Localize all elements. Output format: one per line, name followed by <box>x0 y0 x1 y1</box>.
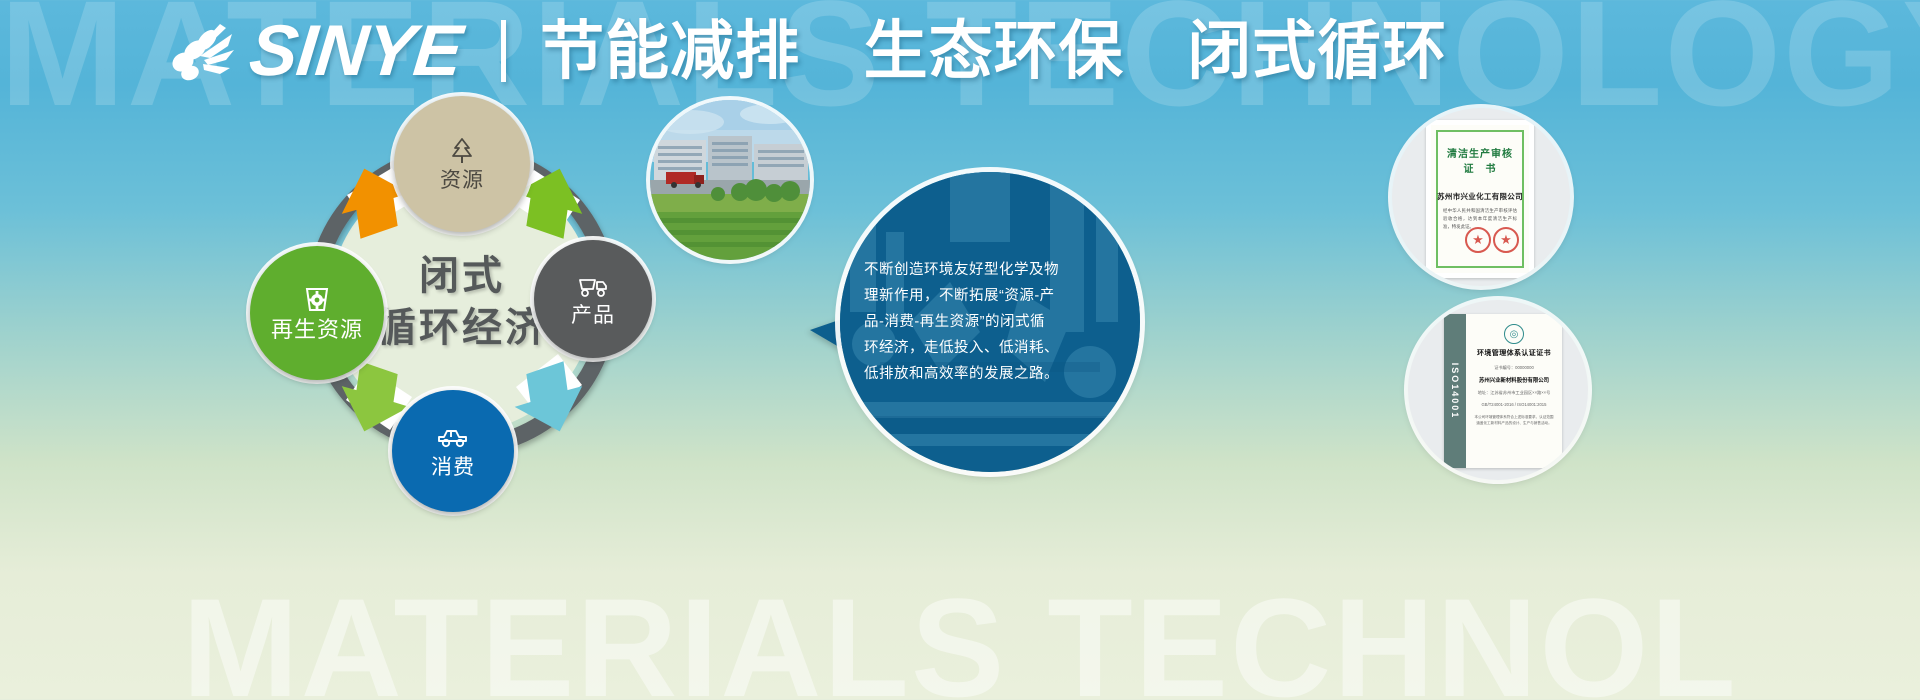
certificate-1-seal-left: ★ <box>1465 227 1491 253</box>
certificate-1-title: 清洁生产审核 证 书 <box>1431 147 1529 177</box>
bubble-line-3: 品-消费-再生资源”的闭式循 <box>864 309 1116 335</box>
certificate-iso-14001[interactable]: ISO14001 ◎ 环境管理体系认证证书 证书编号：00000000 苏州兴业… <box>1408 300 1588 480</box>
factory-photo-image <box>650 100 810 260</box>
certificate-1-company: 苏州市兴业化工有限公司 <box>1431 191 1529 202</box>
car-icon <box>435 422 471 454</box>
factory-photo <box>650 100 810 260</box>
truck-icon <box>575 270 611 302</box>
bubble-line-1: 不断创造环境友好型化学及物 <box>864 257 1116 283</box>
certificate-2-title: 环境管理体系认证证书 <box>1473 348 1555 359</box>
diagram-node-resource[interactable]: 资源 <box>394 96 530 232</box>
certificate-2-body: 本公司环境管理体系符合上述标准要求，认证范围涵盖化工新材料产品的设计、生产与销售… <box>1473 414 1555 426</box>
bubble-text: 不断创造环境友好型化学及物 理新作用，不断拓展“资源-产 品-消费-再生资源”的… <box>840 172 1140 472</box>
node-label-recycle: 再生资源 <box>271 318 363 342</box>
node-label-resource: 资源 <box>440 169 484 193</box>
certificate-2-address: 地址：江苏省苏州市工业园区××路××号 <box>1473 389 1555 396</box>
certification-mark-icon: ◎ <box>1504 324 1524 344</box>
node-label-product: 产品 <box>571 304 615 328</box>
certificate-2-company: 苏州兴业新材料股份有限公司 <box>1473 376 1555 384</box>
certificate-2-paper: ISO14001 ◎ 环境管理体系认证证书 证书编号：00000000 苏州兴业… <box>1444 314 1562 468</box>
bubble-line-5: 低排放和高效率的发展之路。 <box>864 361 1116 387</box>
gear-bin-icon <box>299 284 335 316</box>
certificate-2-standard: GB/T24001-2016 / ISO14001:2015 <box>1473 401 1555 408</box>
logo-wordmark: SINYE <box>246 14 465 88</box>
certificate-1-paper: 清洁生产审核 证 书 苏州市兴业化工有限公司 经中华人民共和国清洁生产审核评估验… <box>1426 120 1534 278</box>
headline-part-1: 节能减排 <box>540 15 800 87</box>
certificate-1-title-line2: 证 书 <box>1431 162 1529 177</box>
headline-part-3: 闭式循环 <box>1187 15 1447 87</box>
watermark-bottom: MATERIALS TECHNOL <box>0 578 1920 700</box>
bubble-line-2: 理新作用，不断拓展“资源-产 <box>864 283 1116 309</box>
certificate-2-spine: ISO14001 <box>1444 314 1466 468</box>
tree-icon <box>444 135 480 167</box>
circular-economy-diagram: 闭式 循环经济 资源 产品 <box>262 100 662 500</box>
mission-statement-bubble: 不断创造环境友好型化学及物 理新作用，不断拓展“资源-产 品-消费-再生资源”的… <box>840 172 1140 472</box>
certificate-clean-production[interactable]: 清洁生产审核 证 书 苏州市兴业化工有限公司 经中华人民共和国清洁生产审核评估验… <box>1392 108 1570 286</box>
headline: 节能减排 生态环保 闭式循环 <box>540 15 1447 87</box>
certificate-2-spine-text: ISO14001 <box>1450 363 1460 420</box>
splash-leaf-icon <box>170 16 236 86</box>
diagram-node-recycle[interactable]: 再生资源 <box>250 246 384 380</box>
header-divider <box>501 20 506 82</box>
certificate-1-seal-right: ★ <box>1493 227 1519 253</box>
certificate-2-reg: 证书编号：00000000 <box>1473 364 1555 371</box>
diagram-node-consume[interactable]: 消费 <box>392 390 514 512</box>
certificate-1-title-line1: 清洁生产审核 <box>1431 147 1529 162</box>
banner-header: SINYE 节能减排 生态环保 闭式循环 <box>170 14 1447 88</box>
certificate-2-main: ◎ 环境管理体系认证证书 证书编号：00000000 苏州兴业新材料股份有限公司… <box>1466 314 1562 468</box>
diagram-node-product[interactable]: 产品 <box>534 240 652 358</box>
headline-part-2: 生态环保 <box>864 15 1124 87</box>
bubble-line-4: 环经济，走低投入、低消耗、 <box>864 335 1116 361</box>
node-label-consume: 消费 <box>431 456 475 480</box>
